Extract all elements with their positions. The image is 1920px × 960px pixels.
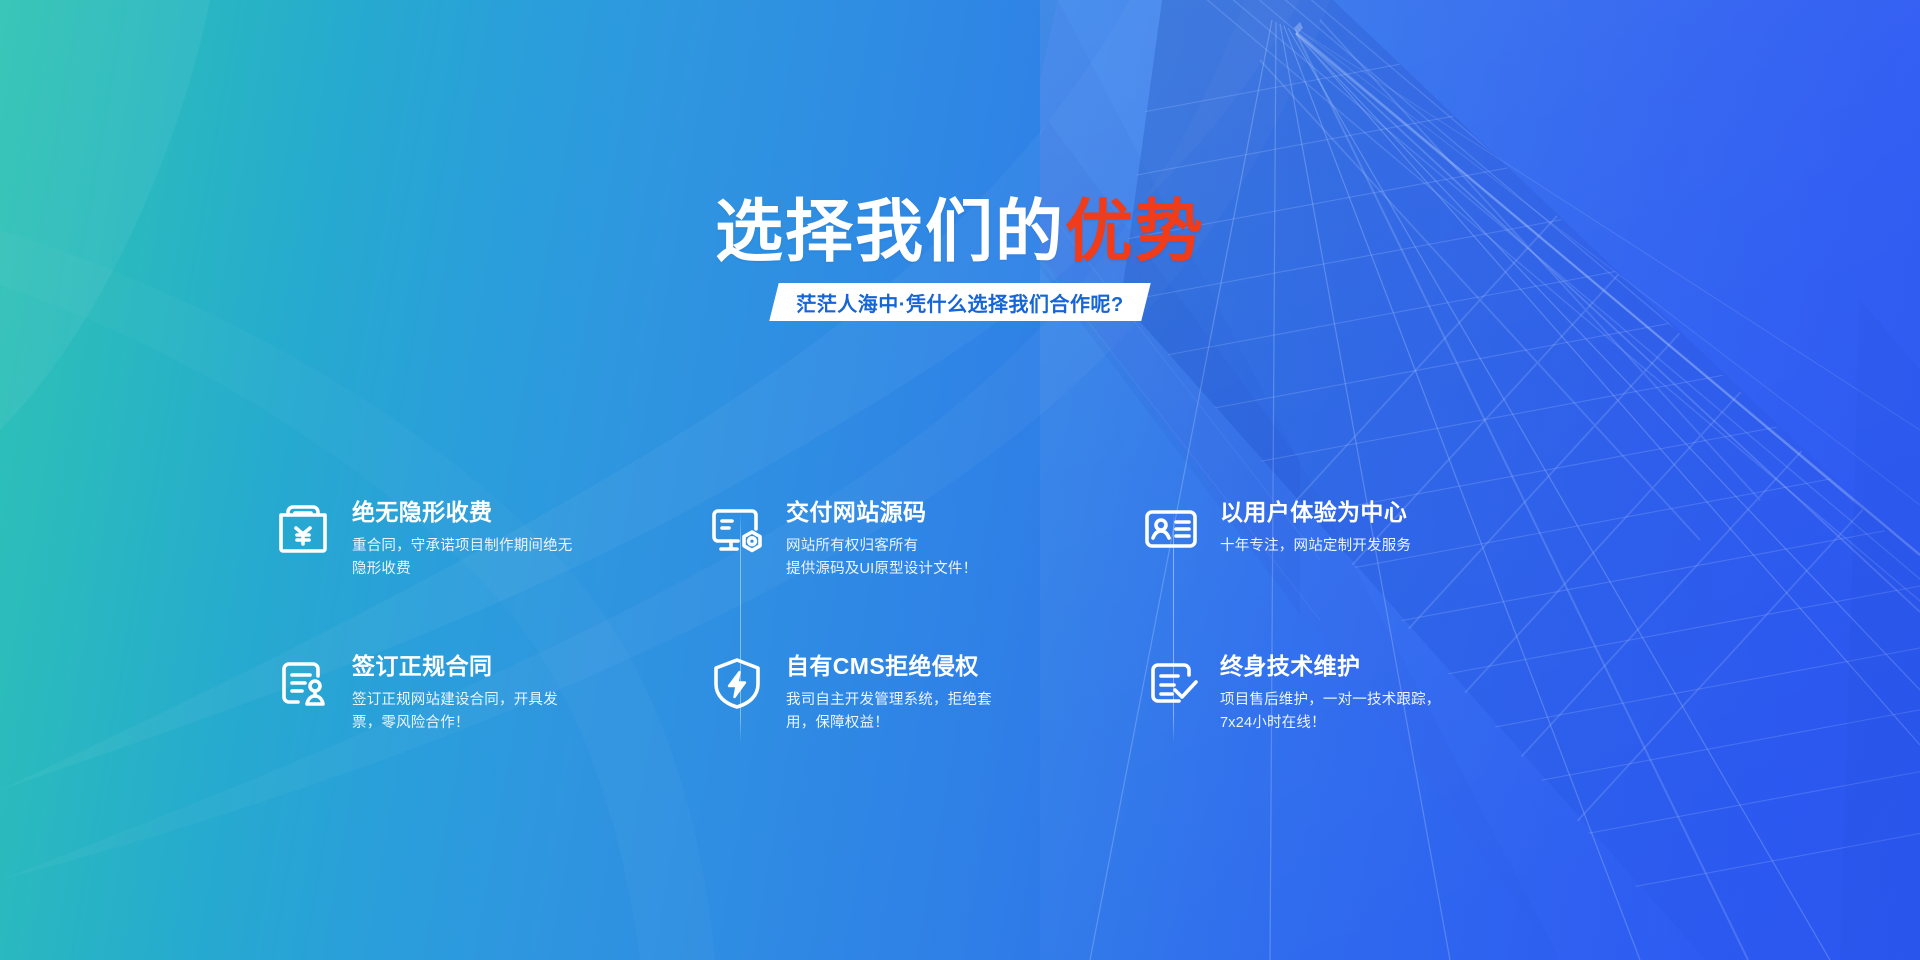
feature-title: 终身技术维护 [1220, 654, 1452, 680]
banner-header: 选择我们的优势 茫茫人海中·凭什么选择我们合作呢? [0, 198, 1920, 321]
features-grid: 绝无隐形收费 重合同，守承诺项目制作期间绝无隐形收费 交付网站源码 网站所 [272, 492, 1652, 782]
feature-item-lifetime-maintenance[interactable]: 终身技术维护 项目售后维护，一对一技术跟踪，7x24小时在线！ [1140, 638, 1600, 784]
subtitle-text: 茫茫人海中·凭什么选择我们合作呢? [790, 288, 1129, 317]
page-title-highlight: 优势 [1065, 194, 1205, 270]
feature-title: 以用户体验为中心 [1220, 500, 1411, 526]
id-card-icon [1140, 498, 1202, 560]
page-title-main: 选择我们的 [715, 194, 1065, 270]
feature-text: 以用户体验为中心 十年专注，网站定制开发服务 [1220, 498, 1411, 558]
briefcase-yen-icon [272, 498, 334, 560]
background-color-overlay [0, 0, 1920, 960]
feature-description: 重合同，守承诺项目制作期间绝无隐形收费 [352, 535, 584, 582]
feature-text: 签订正规合同 签订正规网站建设合同，开具发票，零风险合作！ [352, 652, 584, 736]
contract-seal-icon [272, 652, 334, 714]
checklist-icon [1140, 652, 1202, 714]
feature-text: 绝无隐形收费 重合同，守承诺项目制作期间绝无隐形收费 [352, 498, 584, 582]
feature-text: 自有CMS拒绝侵权 我司自主开发管理系统，拒绝套用，保障权益！ [786, 652, 1018, 736]
shield-bolt-icon [706, 652, 768, 714]
feature-description: 网站所有权归客所有 提供源码及UI原型设计文件！ [786, 535, 977, 582]
feature-description: 项目售后维护，一对一技术跟踪，7x24小时在线！ [1220, 689, 1452, 736]
banner-stage: 选择我们的优势 茫茫人海中·凭什么选择我们合作呢? [0, 0, 1920, 960]
feature-text: 交付网站源码 网站所有权归客所有 提供源码及UI原型设计文件！ [786, 498, 977, 582]
monitor-gear-icon [706, 498, 768, 560]
feature-item-user-experience[interactable]: 以用户体验为中心 十年专注，网站定制开发服务 [1140, 492, 1600, 638]
feature-title: 签订正规合同 [352, 654, 584, 680]
feature-text: 终身技术维护 项目售后维护，一对一技术跟踪，7x24小时在线！ [1220, 652, 1452, 736]
feature-description: 十年专注，网站定制开发服务 [1220, 535, 1411, 558]
feature-item-no-hidden-fees[interactable]: 绝无隐形收费 重合同，守承诺项目制作期间绝无隐形收费 [272, 492, 706, 638]
feature-title: 交付网站源码 [786, 500, 977, 526]
page-title: 选择我们的优势 [715, 198, 1205, 266]
subtitle-banner: 茫茫人海中·凭什么选择我们合作呢? [790, 283, 1129, 321]
feature-description: 我司自主开发管理系统，拒绝套用，保障权益！ [786, 689, 1018, 736]
feature-title: 绝无隐形收费 [352, 500, 584, 526]
feature-title: 自有CMS拒绝侵权 [786, 654, 1018, 680]
feature-description: 签订正规网站建设合同，开具发票，零风险合作！ [352, 689, 584, 736]
feature-item-own-cms[interactable]: 自有CMS拒绝侵权 我司自主开发管理系统，拒绝套用，保障权益！ [706, 638, 1140, 784]
feature-item-source-code-delivery[interactable]: 交付网站源码 网站所有权归客所有 提供源码及UI原型设计文件！ [706, 492, 1140, 638]
feature-item-formal-contract[interactable]: 签订正规合同 签订正规网站建设合同，开具发票，零风险合作！ [272, 638, 706, 784]
